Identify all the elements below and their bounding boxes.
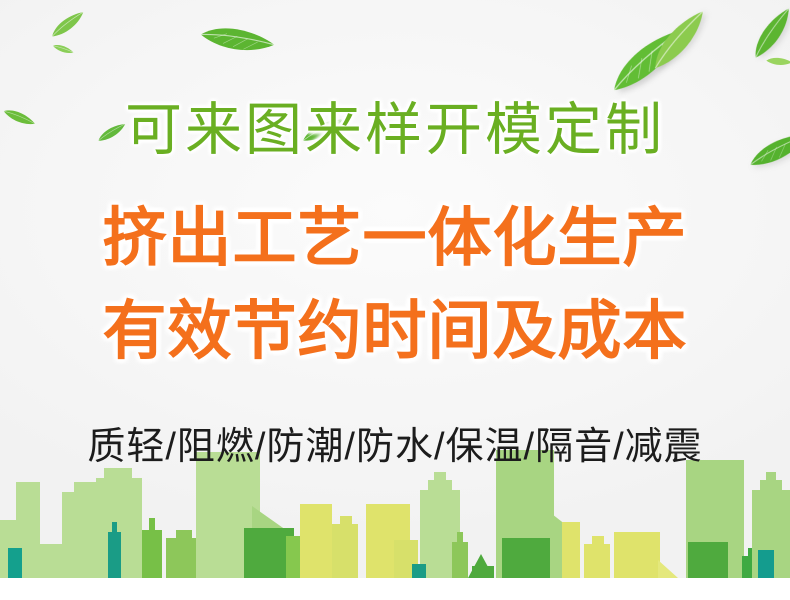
promo-banner: 可来图来样开模定制 挤出工艺一体化生产 有效节约时间及成本 质轻/阻燃/防潮/防… — [0, 0, 790, 600]
headline-tertiary-orange: 有效节约时间及成本 — [0, 293, 790, 369]
bottom-white-strip — [0, 578, 790, 600]
headline-primary-green: 可来图来样开模定制 — [0, 95, 790, 165]
headline-secondary-orange: 挤出工艺一体化生产 — [0, 200, 790, 276]
feature-list-subtitle: 质轻/阻燃/防潮/防水/保温/隔音/减震 — [0, 422, 790, 472]
